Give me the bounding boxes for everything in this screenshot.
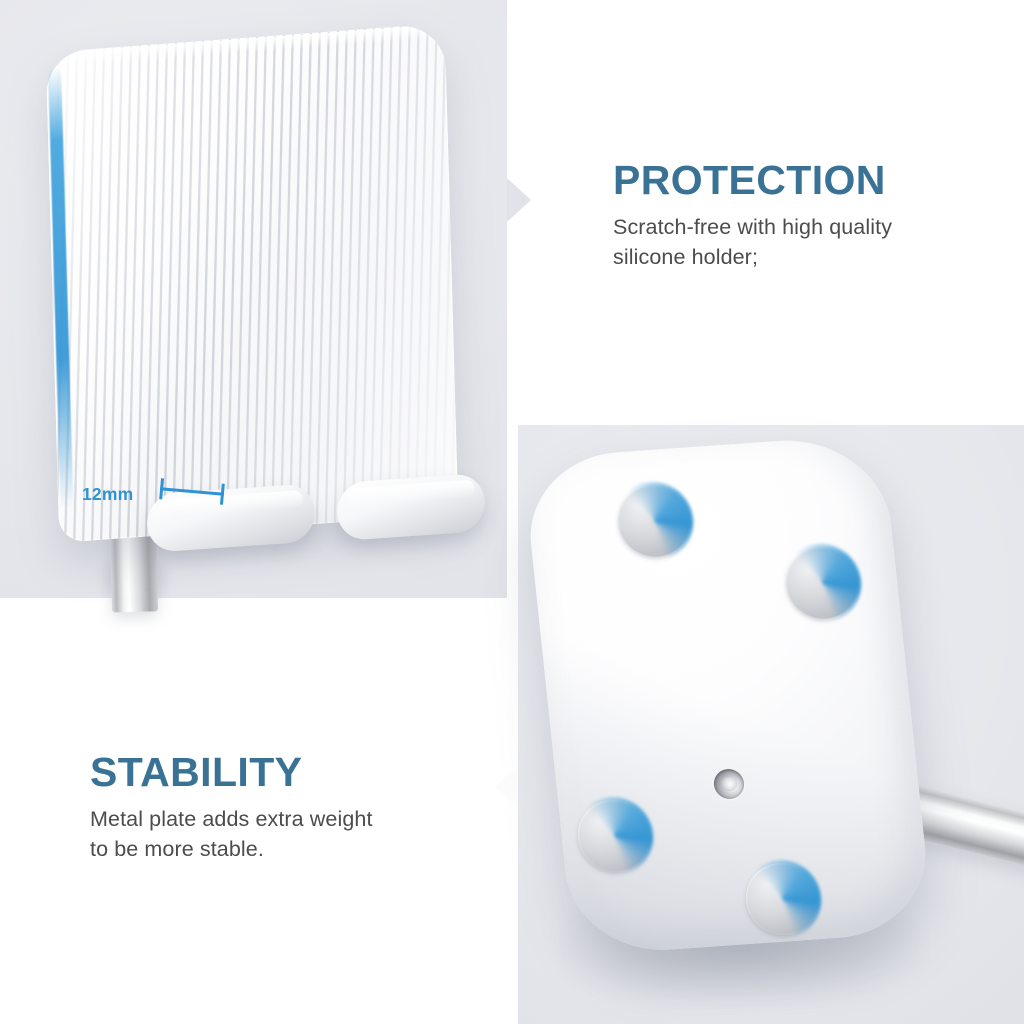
base-metal-pad-bottom-right (742, 861, 821, 938)
feature-title-stability: STABILITY (90, 752, 480, 793)
photo-panel-stability (518, 425, 1024, 1024)
feature-block-protection: PROTECTION Scratch-free with high qualit… (613, 160, 993, 272)
holder-lip-right-highlight (347, 480, 474, 507)
holder-lip-left-highlight (159, 490, 303, 518)
feature-description-protection-line-1: Scratch-free with high quality (613, 215, 892, 239)
base-metal-pad-top-left (614, 483, 693, 560)
feature-title-protection: PROTECTION (613, 160, 993, 201)
feature-description-protection-line-2: silicone holder; (613, 245, 758, 269)
silicone-rib-texture (46, 23, 459, 543)
holder-lip-left (147, 483, 316, 553)
base-screw-hole (720, 776, 737, 791)
feature-description-stability-line-2: to be more stable. (90, 837, 264, 861)
photo-panel-protection: 12mm (0, 0, 507, 598)
base-metal-pad-top-right (782, 545, 861, 622)
callout-pointer-stability (494, 767, 518, 807)
holder-backplate-group (46, 23, 459, 543)
feature-description-protection: Scratch-free with high quality silicone … (613, 213, 993, 272)
base-plate-rim-shading (522, 434, 934, 956)
base-plate-body (522, 434, 934, 956)
base-plate-product-illustration (518, 425, 1024, 1024)
base-metal-pad-bottom-left (574, 798, 653, 875)
holder-lip-right (337, 473, 486, 541)
feature-block-stability: STABILITY Metal plate adds extra weight … (90, 752, 480, 864)
holder-silicone-backplate (46, 23, 459, 543)
phone-holder-product-illustration: 12mm (0, 0, 507, 598)
feature-description-stability: Metal plate adds extra weight to be more… (90, 805, 480, 864)
feature-description-stability-line-1: Metal plate adds extra weight (90, 807, 373, 831)
dimension-label-text: 12mm (82, 484, 133, 505)
callout-pointer-protection (507, 178, 531, 222)
infographic-root: 12mm PROTECTION Scratch-free with high q… (0, 0, 1024, 1024)
